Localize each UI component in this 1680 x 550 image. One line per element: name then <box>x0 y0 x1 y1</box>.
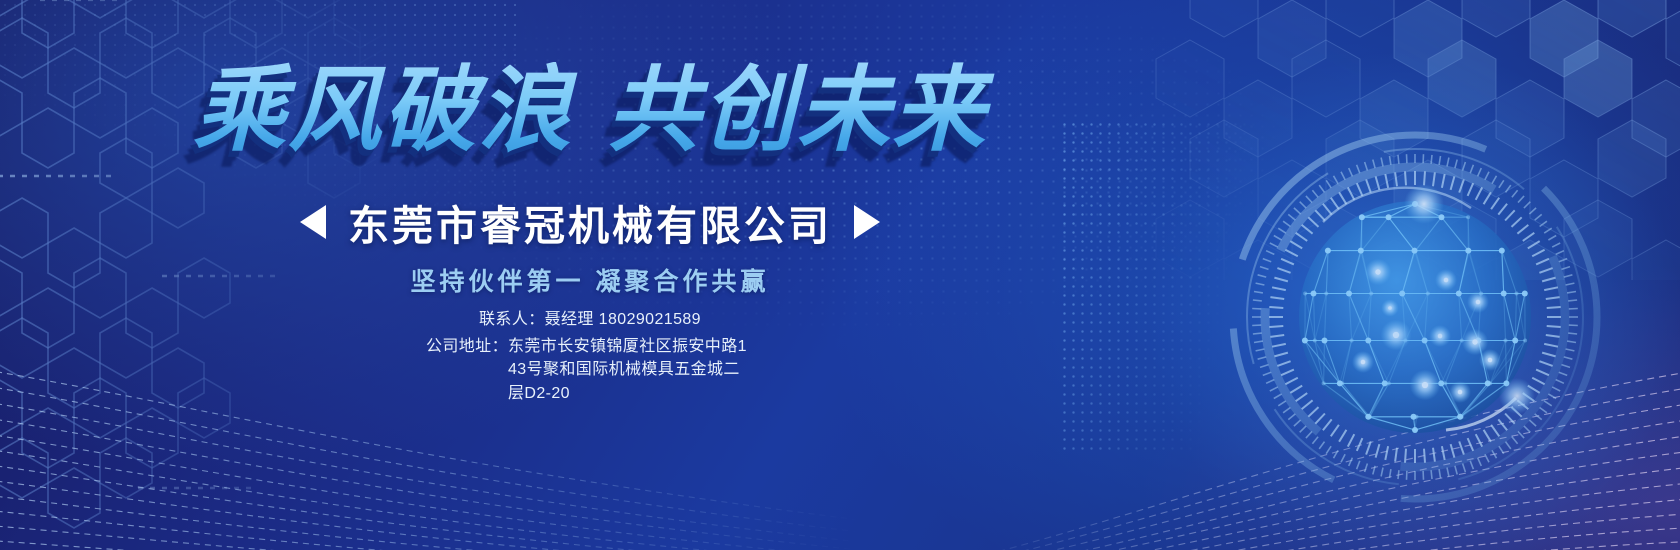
headline-part-1: 乘风破浪 <box>193 58 573 162</box>
address-value: 东莞市长安镇锦厦社区振安中路143号聚和国际机械模具五金城二层D2-20 <box>508 335 754 405</box>
company-name-row: 东莞市睿冠机械有限公司 <box>0 192 1180 252</box>
left-triangle-icon <box>300 205 326 239</box>
right-triangle-icon <box>854 205 880 239</box>
address-label: 公司地址： <box>426 335 508 358</box>
company-address-row: 公司地址： 东莞市长安镇锦厦社区振安中路143号聚和国际机械模具五金城二层D2-… <box>426 335 754 405</box>
headline: 乘风破浪共创未来 <box>0 62 1180 160</box>
headline-part-2: 共创未来 <box>607 58 987 162</box>
tech-globe-graphic <box>1228 130 1602 504</box>
contact-person-line: 联系人：聂经理 18029021589 <box>479 308 701 331</box>
company-name: 东莞市睿冠机械有限公司 <box>348 192 832 252</box>
banner-content: 乘风破浪共创未来 东莞市睿冠机械有限公司 坚持伙伴第一 凝聚合作共赢 联系人：聂… <box>0 0 1100 550</box>
slogan: 坚持伙伴第一 凝聚合作共赢 <box>0 262 1180 298</box>
promotional-banner: 乘风破浪共创未来 东莞市睿冠机械有限公司 坚持伙伴第一 凝聚合作共赢 联系人：聂… <box>0 0 1680 550</box>
contact-block: 联系人：聂经理 18029021589 公司地址： 东莞市长安镇锦厦社区振安中路… <box>0 308 1180 405</box>
